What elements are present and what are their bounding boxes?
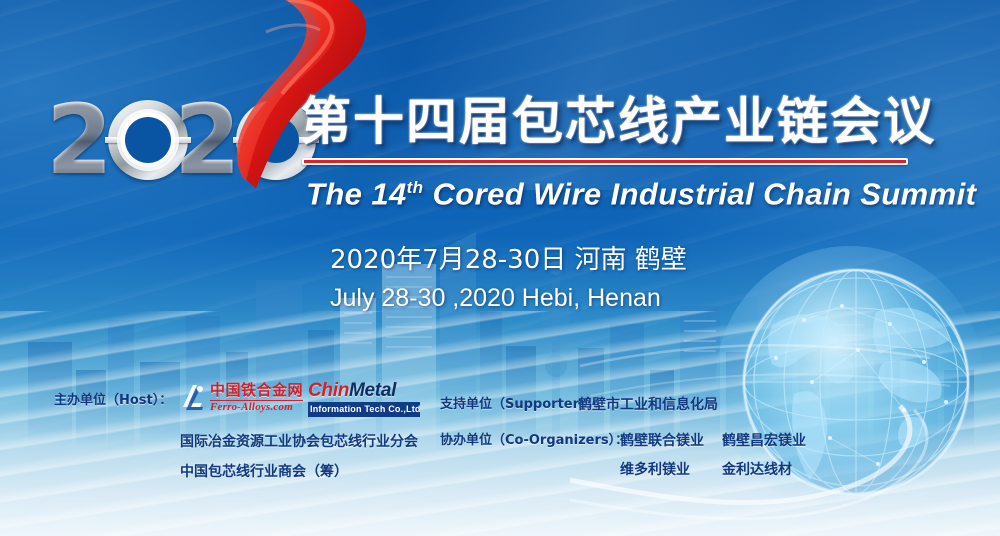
event-date-english: July 28-30 ,2020 Hebi, Henan [330, 283, 661, 314]
ferro-alloys-text: 中国铁合金网 Ferro-Alloys.com [210, 383, 303, 413]
ferro-alloys-name-en: Ferro-Alloys.com [210, 400, 303, 413]
conference-banner: 2 W 2 第十四届包芯线产业链 [0, 0, 1000, 536]
co-organizer-3: 维多利镁业 [620, 460, 690, 480]
title-divider-rule [302, 158, 908, 165]
logo-digit-2-left: 2 [46, 98, 111, 182]
page-title-chinese: 第十四届包芯线产业链会议 [300, 95, 920, 151]
host-logo-ferro-alloys: 中国铁合金网 Ferro-Alloys.com [180, 380, 298, 416]
host-organization-1: 国际冶金资源工业协会包芯线行业分会 [180, 432, 418, 452]
logo-2020: 2 W 2 [46, 98, 306, 182]
chinmetal-wordmark: ChinMetal [308, 380, 420, 401]
chinmetal-subtitle: Information Tech Co.,Ltd [308, 402, 420, 417]
co-organizer-4: 金利达线材 [722, 460, 792, 480]
title-en-rest: Cored Wire Industrial Chain Summit [423, 176, 976, 211]
title-en-prefix: The 14 [306, 176, 407, 211]
page-title-english: The 14th Cored Wire Industrial Chain Sum… [306, 168, 926, 214]
globe-graphic [708, 242, 1000, 536]
co-organizers-label: 协办单位（Co-Organizers）： [440, 432, 628, 450]
host-organization-2: 中国包芯线行业商会（筹） [180, 462, 348, 482]
w-emblem-icon: W [120, 112, 176, 168]
ferro-alloys-name-cn: 中国铁合金网 [210, 383, 303, 398]
supporters-value: 鹤壁市工业和信息化局 [578, 395, 718, 415]
host-label: 主办单位（Host）： [54, 392, 172, 410]
host-logo-chinmetal: ChinMetal Information Tech Co.,Ltd [308, 380, 420, 416]
logo-digit-2-right: 2 [174, 98, 239, 182]
background-diagonal-streaks-bottom [0, 311, 1000, 536]
ferro-alloys-mark-icon [180, 383, 206, 413]
chinmetal-wordmark-part2: Metal [349, 380, 396, 401]
title-en-ordinal-suffix: th [407, 178, 424, 197]
co-organizer-2: 鹤壁昌宏镁业 [722, 431, 806, 451]
event-date-chinese: 2020年7月28-30日 河南 鹤壁 [330, 244, 687, 276]
co-organizer-1: 鹤壁联合镁业 [620, 431, 704, 451]
chinmetal-wordmark-part1: Chin [308, 380, 349, 401]
